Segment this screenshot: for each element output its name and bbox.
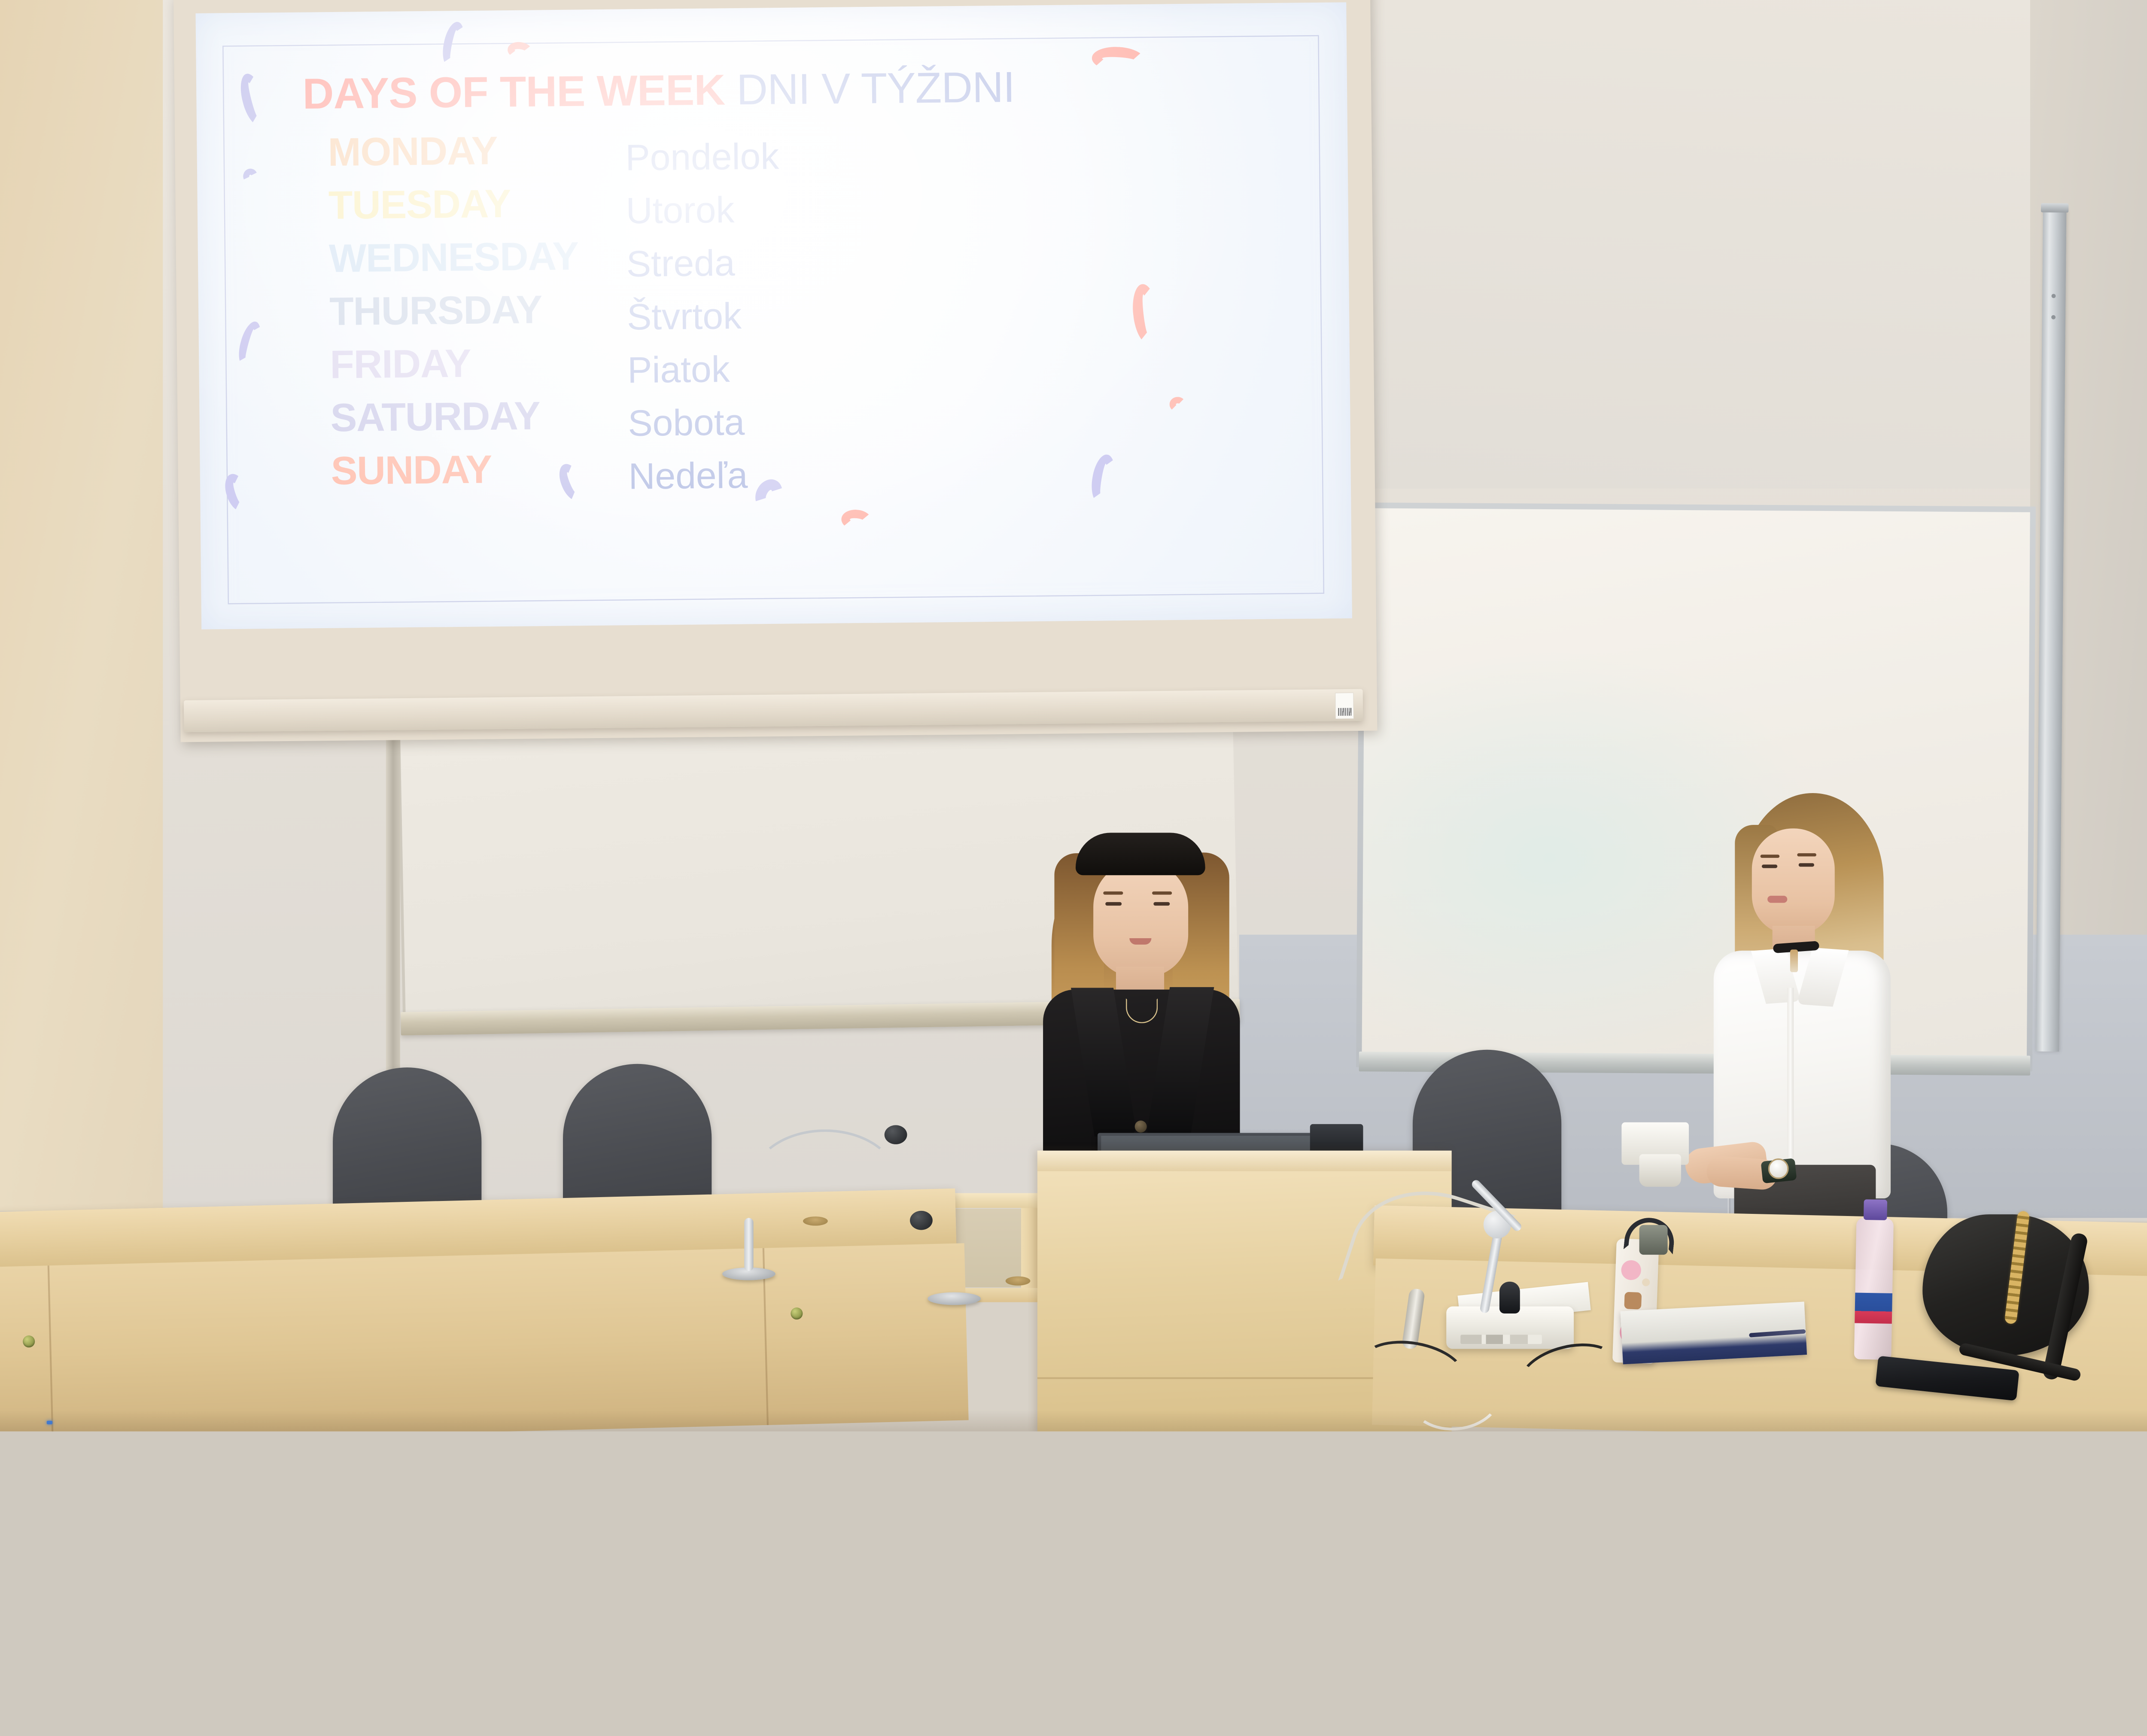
day-name-english: SATURDAY [330,396,540,438]
confetti-piece [1169,397,1186,412]
microphone-base [928,1292,981,1305]
microphone-stem [744,1218,753,1271]
presenter-right [1692,790,1905,1247]
screen-barcode-label [1335,693,1353,719]
slide-title-slovak: DNI V TÝŽDNI [736,63,1015,113]
day-row: THURSDAYŠtvrtok [315,283,1222,345]
day-name-english: SUNDAY [331,450,492,491]
lecture-hall-scene: DAYS OF THE WEEK DNI V TÝŽDNI MONDAYPond… [0,0,2147,1432]
cable-grommet [1006,1276,1031,1285]
wall-trim-rail [386,719,400,1119]
day-name-slovak: Nedeľa [628,457,748,495]
day-name-slovak: Streda [626,245,735,283]
day-name-english: TUESDAY [328,184,511,225]
bottle-cap[interactable] [1639,1225,1668,1255]
day-name-slovak: Utorok [626,192,734,229]
slide-title: DAYS OF THE WEEK DNI V TÝŽDNI [302,62,1015,119]
day-row: TUESDAYUtorok [314,177,1221,239]
day-name-slovak: Pondelok [625,138,779,176]
day-name-english: MONDAY [328,131,497,172]
document-camera-lens [1639,1154,1681,1187]
desk-front-left [0,1243,969,1431]
day-row: MONDAYPondelok [313,124,1220,186]
microphone-gooseneck [751,1129,899,1235]
water-bottle[interactable] [1854,1218,1894,1360]
headband [1076,833,1205,875]
day-row: FRIDAYPiatok [316,336,1223,398]
day-row: SATURDAYSobota [316,389,1223,451]
day-name-slovak: Piatok [627,351,730,389]
microphone-head [885,1125,907,1144]
days-of-week-list: MONDAYPondelokTUESDAYUtorokWEDNESDAYStre… [313,124,1223,505]
day-row: WEDNESDAYStreda [315,230,1222,292]
document-camera-knob[interactable] [1499,1282,1520,1313]
day-name-slovak: Štvrtok [627,298,742,335]
projection-screen: DAYS OF THE WEEK DNI V TÝŽDNI MONDAYPond… [173,0,1378,742]
wall-left [0,0,163,1211]
day-name-english: THURSDAY [329,290,542,331]
bottle-label [1855,1292,1892,1323]
day-name-english: WEDNESDAY [329,236,579,278]
floor-shadow [0,1410,2147,1431]
microphone-head [910,1211,933,1230]
slide-title-english: DAYS OF THE WEEK [302,66,725,118]
day-name-slovak: Sobota [628,404,745,442]
bottle-cap[interactable] [1864,1199,1887,1220]
wall-upper-right [1338,0,2147,489]
day-name-english: FRIDAY [330,344,471,384]
presentation-slide: DAYS OF THE WEEK DNI V TÝŽDNI MONDAYPond… [196,2,1352,629]
